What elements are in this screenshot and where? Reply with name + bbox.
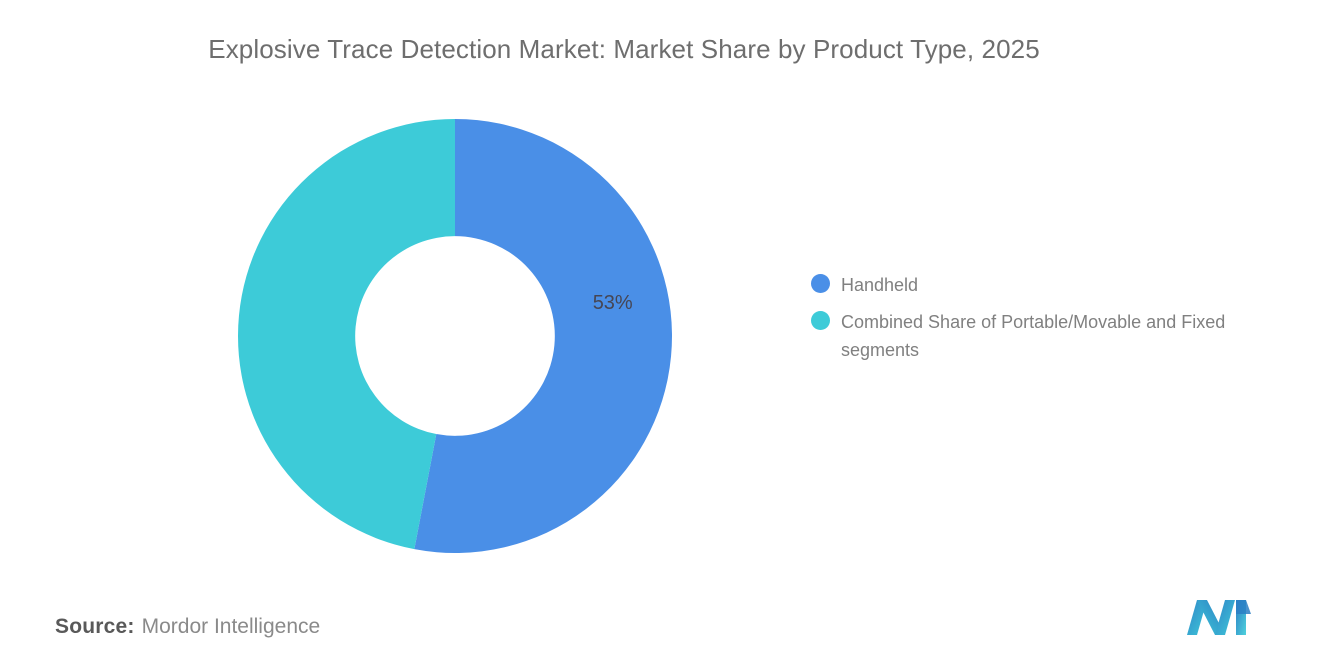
source-value: Mordor Intelligence: [142, 615, 321, 638]
mordor-intelligence-logo-icon: [1184, 597, 1254, 637]
chart-legend: Handheld Combined Share of Portable/Mova…: [811, 271, 1251, 373]
donut-chart-svg: [238, 119, 672, 553]
legend-item-label: Combined Share of Portable/Movable and F…: [841, 308, 1233, 364]
pie-slice-combined-portable-fixed[interactable]: [238, 119, 455, 549]
legend-item-combined-portable-fixed[interactable]: Combined Share of Portable/Movable and F…: [811, 308, 1251, 364]
source-attribution: Source:Mordor Intelligence: [55, 613, 320, 641]
legend-swatch-icon: [811, 274, 830, 293]
legend-swatch-icon: [811, 311, 830, 330]
legend-item-label: Handheld: [841, 271, 918, 299]
source-label: Source:: [55, 615, 135, 638]
legend-item-handheld[interactable]: Handheld: [811, 271, 1251, 299]
page-title: Explosive Trace Detection Market: Market…: [0, 31, 1320, 67]
donut-chart: 53%: [238, 119, 672, 553]
chart-canvas: Explosive Trace Detection Market: Market…: [0, 0, 1320, 665]
